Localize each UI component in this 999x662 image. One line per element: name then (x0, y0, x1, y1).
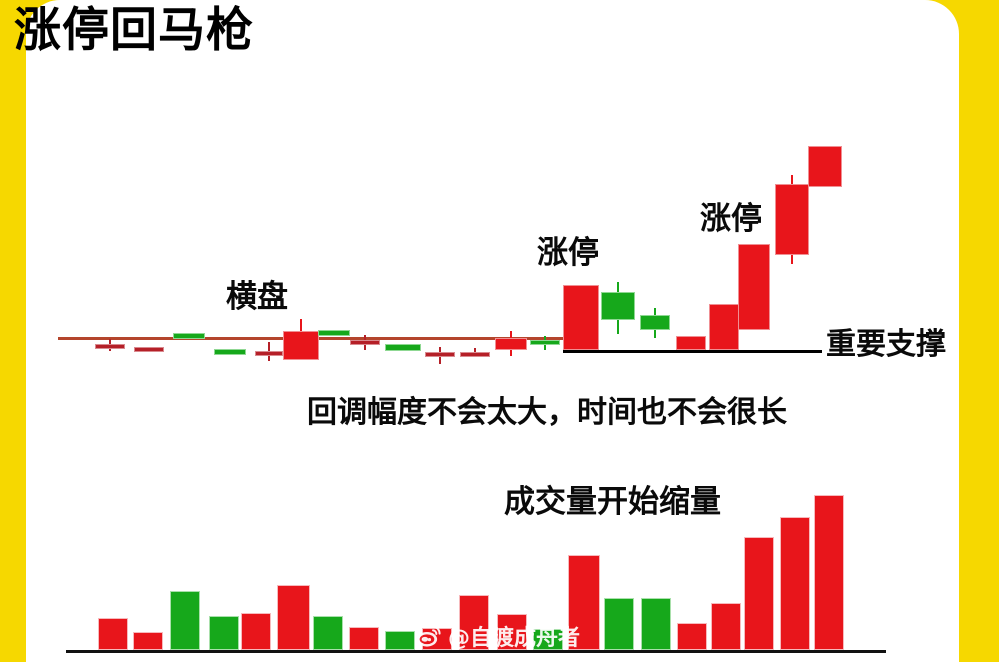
candlestick-0 (95, 339, 125, 351)
volume-bar-16 (677, 623, 707, 650)
candlestick-4 (255, 342, 283, 361)
candle-body (775, 184, 809, 255)
candle-body (640, 315, 670, 330)
candle-body (738, 244, 770, 330)
candlestick-16 (676, 336, 706, 350)
annotation-consolidation: 横盘 (226, 282, 288, 313)
annotation-volume-note: 成交量开始缩量 (504, 487, 721, 518)
candlestick-17 (709, 304, 739, 350)
candlestick-6 (318, 330, 350, 336)
candle-body (601, 292, 635, 321)
volume-bar-5 (277, 585, 310, 650)
candle-body (350, 340, 380, 345)
candle-body (563, 285, 599, 350)
candlestick-12 (530, 336, 560, 350)
candle-body (134, 347, 164, 352)
volume-bar-19 (780, 517, 810, 650)
candle-body (95, 344, 125, 349)
candlestick-15 (640, 308, 670, 339)
candlestick-7 (350, 335, 380, 350)
candlestick-19 (775, 175, 809, 264)
volume-bar-8 (385, 631, 415, 650)
volume-bar-1 (133, 632, 163, 650)
candlestick-20 (808, 146, 842, 187)
volume-bar-7 (349, 627, 379, 650)
candle-body (460, 352, 490, 357)
candlestick-18 (738, 244, 770, 330)
candle-body (173, 333, 205, 339)
volume-bar-14 (604, 598, 634, 650)
candle-body (425, 352, 455, 357)
candlestick-3 (214, 349, 246, 355)
page-title: 涨停回马枪 (14, 6, 254, 55)
candlestick-1 (134, 347, 164, 350)
candlestick-5 (283, 319, 319, 360)
volume-bar-3 (209, 616, 239, 650)
candle-body (214, 349, 246, 355)
candlestick-11 (495, 331, 527, 357)
annotation-pullback-note: 回调幅度不会太大，时间也不会很长 (307, 398, 787, 428)
volume-bar-6 (313, 616, 343, 650)
chart-image-root: 涨停回马枪 横盘 涨停 涨停 重要支撑 回调幅度不会太大，时间也不会很长 成交量… (0, 0, 999, 662)
candlestick-13 (563, 285, 599, 350)
weibo-logo-icon (416, 623, 442, 649)
candlestick-10 (460, 348, 490, 357)
candle-body (808, 146, 842, 187)
annotation-limit-up-second: 涨停 (700, 204, 762, 235)
volume-bar-15 (641, 598, 671, 650)
watermark-handle: @自渡成舟者 (448, 620, 580, 652)
candle-body (283, 331, 319, 360)
candle-body (709, 304, 739, 350)
volume-bar-17 (711, 603, 741, 650)
candlestick-14 (601, 282, 635, 334)
candle-body (255, 351, 283, 356)
candlestick-8 (385, 344, 421, 351)
candle-body (530, 340, 560, 345)
candle-body (318, 330, 350, 336)
volume-bar-18 (744, 537, 774, 650)
volume-bar-4 (241, 613, 271, 650)
volume-bar-2 (170, 591, 200, 650)
annotation-key-support: 重要支撑 (826, 330, 946, 360)
key-support-line (563, 350, 822, 353)
volume-bar-0 (98, 618, 128, 650)
candle-body (676, 336, 706, 350)
watermark: @自渡成舟者 (416, 620, 580, 652)
candlestick-2 (173, 333, 205, 339)
volume-bar-20 (814, 495, 844, 650)
candlestick-9 (425, 347, 455, 364)
candle-body (385, 344, 421, 351)
candle-body (495, 338, 527, 350)
annotation-limit-up-first: 涨停 (537, 238, 599, 269)
